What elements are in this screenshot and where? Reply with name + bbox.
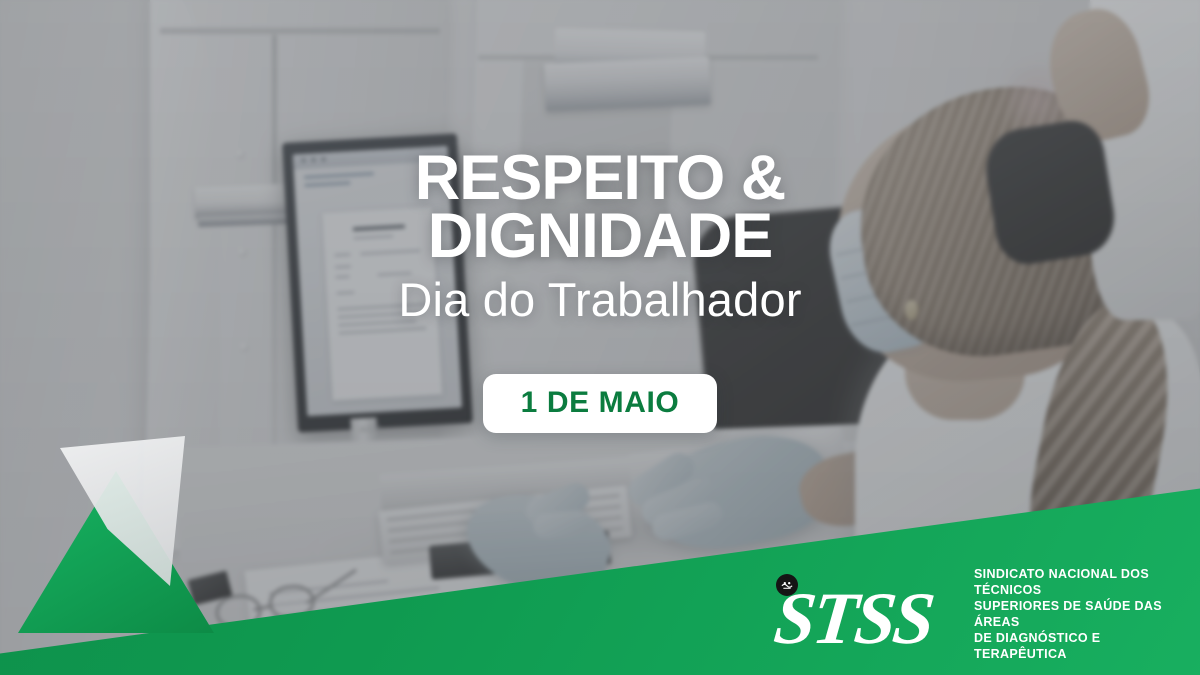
poster-canvas: ACR [0, 0, 1200, 675]
stss-tagline-line-1: SINDICATO NACIONAL DOS TÉCNICOS [974, 566, 1190, 598]
stss-tagline: SINDICATO NACIONAL DOS TÉCNICOS SUPERIOR… [974, 566, 1190, 662]
date-badge-wrapper: 1 DE MAIO [0, 374, 1200, 433]
stss-tagline-line-2: SUPERIORES DE SAÚDE DAS ÁREAS [974, 598, 1190, 630]
date-badge[interactable]: 1 DE MAIO [483, 374, 718, 433]
stss-logo-lockup[interactable]: STSS SINDICATO NACIONAL DOS TÉCNICOS SUP… [770, 566, 1190, 662]
stss-tagline-line-3: DE DIAGNÓSTICO E TERAPÊUTICA [974, 630, 1190, 662]
stss-wordmark: STSS [770, 569, 960, 659]
stss-circular-emblem-icon [776, 574, 798, 596]
